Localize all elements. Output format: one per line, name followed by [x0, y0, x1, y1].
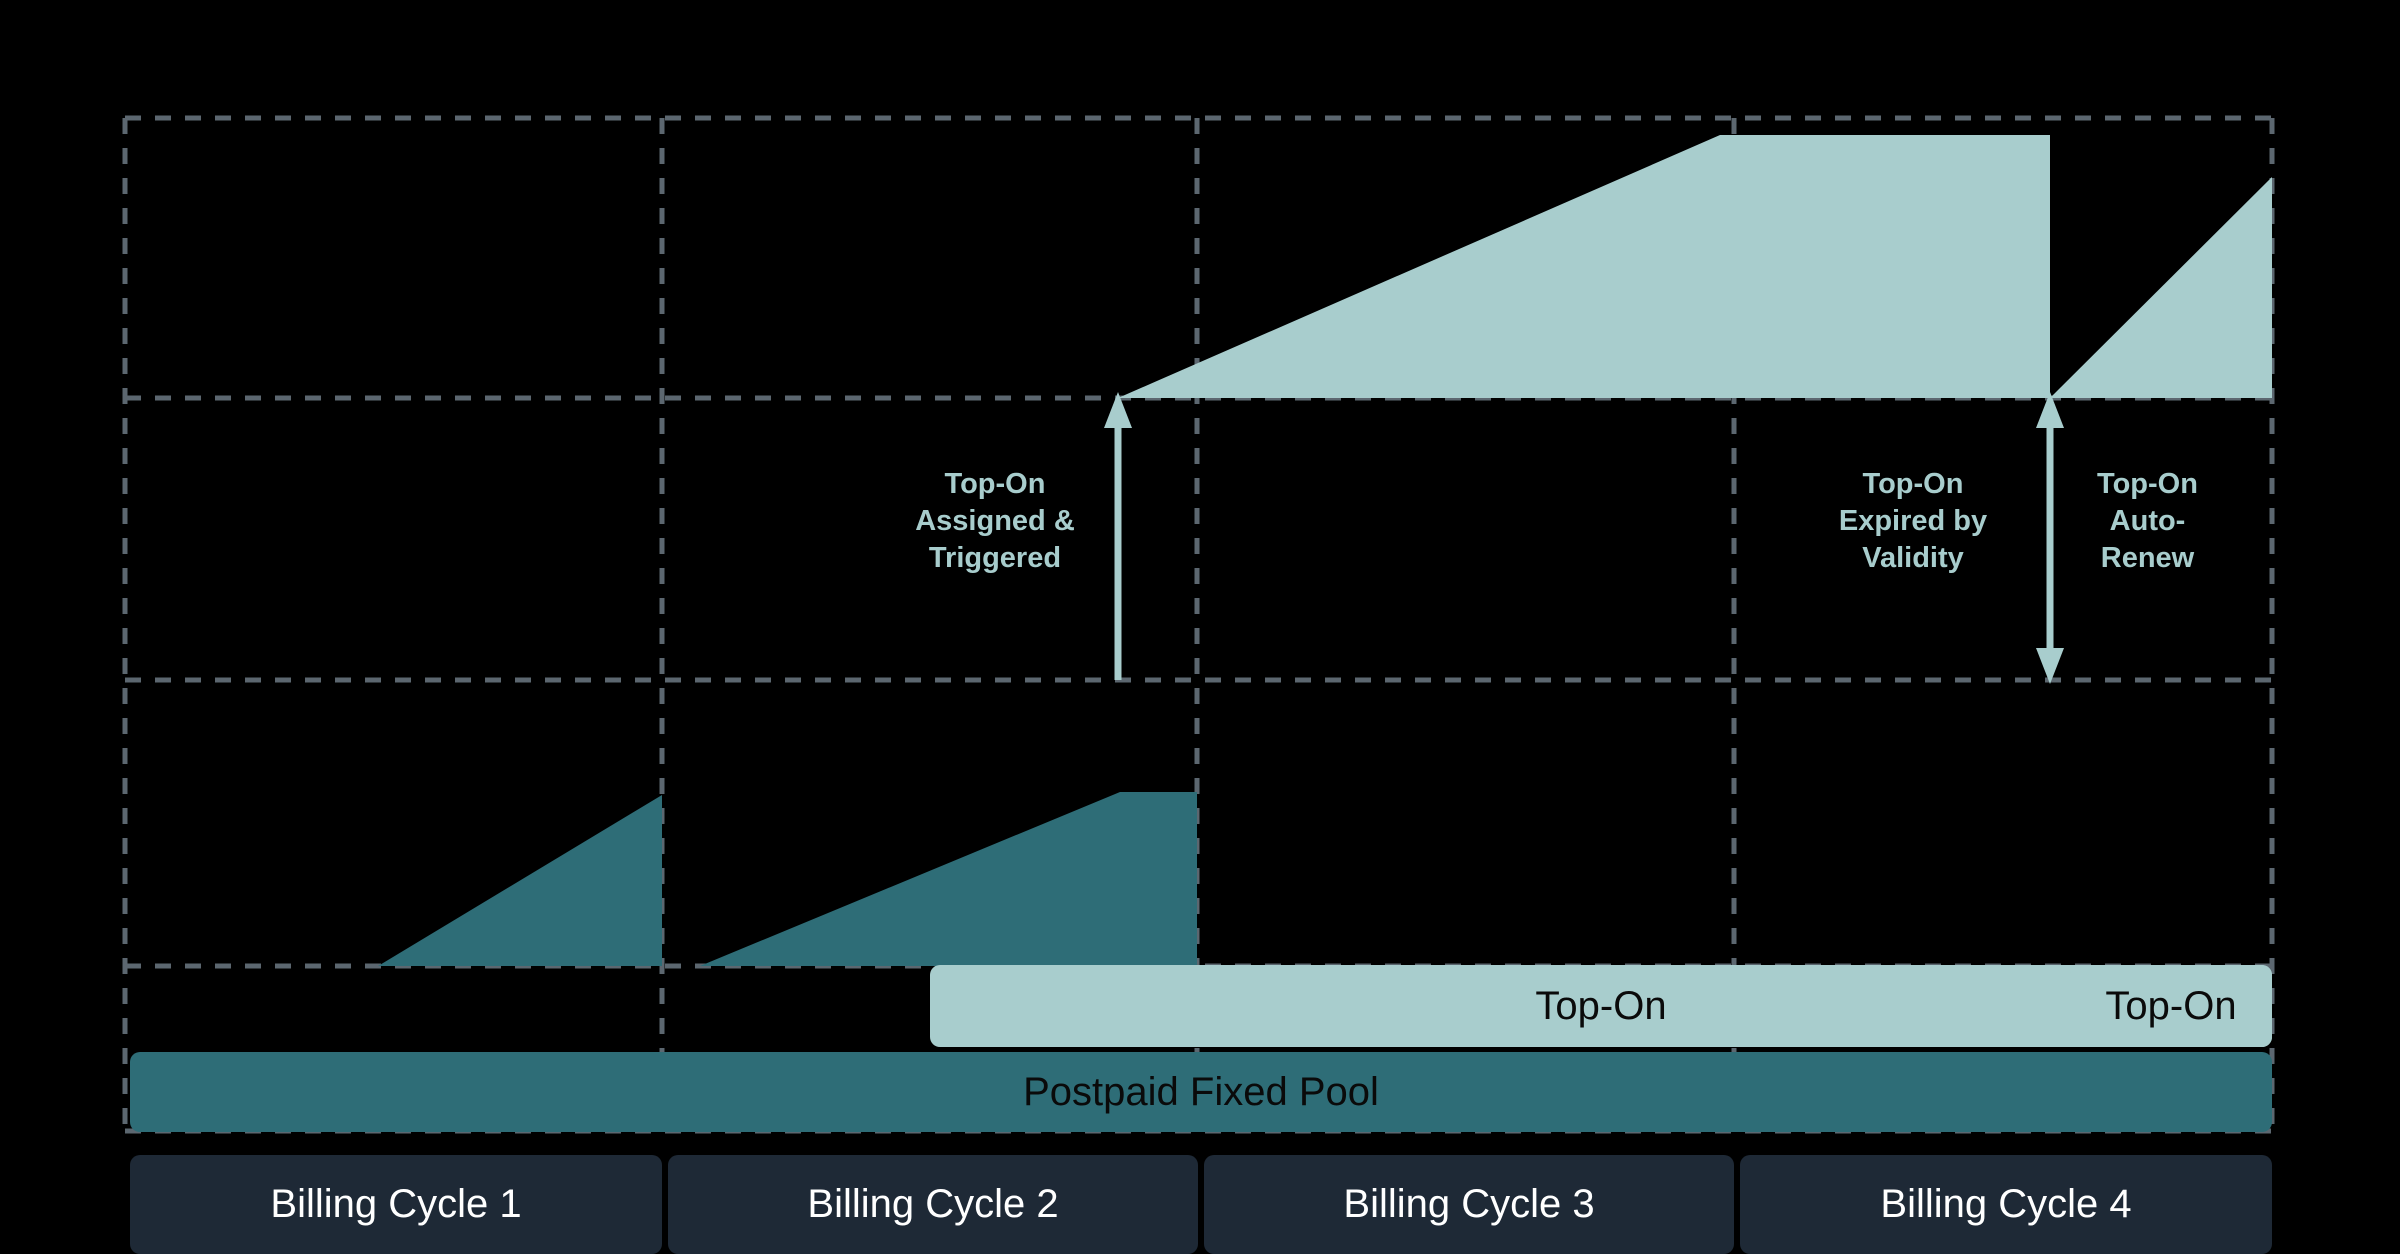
- annotation-top-on-assigned-triggered: Top-On Assigned & Triggered: [900, 466, 1090, 577]
- postpaid-usage-area: [378, 792, 1197, 966]
- postpaid-fixed-pool-bar[interactable]: Postpaid Fixed Pool: [130, 1052, 2272, 1132]
- billing-cycle-4[interactable]: Billing Cycle 4: [1740, 1155, 2272, 1254]
- billing-cycle-2[interactable]: Billing Cycle 2: [668, 1155, 1198, 1254]
- billing-cycle-2-label: Billing Cycle 2: [807, 1182, 1058, 1227]
- billing-cycle-3-label: Billing Cycle 3: [1343, 1182, 1594, 1227]
- topon-usage-ramp: [1118, 135, 2050, 398]
- topon-usage-area: [1118, 135, 2272, 398]
- postpaid-fixed-pool-label: Postpaid Fixed Pool: [1023, 1070, 1379, 1115]
- top-on-bar-2-label: Top-On: [2105, 984, 2236, 1029]
- billing-cycle-1-label: Billing Cycle 1: [270, 1182, 521, 1227]
- postpaid-usage-cycle2: [700, 792, 1197, 966]
- annotation-top-on-expired-by-validity: Top-On Expired by Validity: [1818, 466, 2008, 577]
- annotation-top-on-auto-renew: Top-On Auto- Renew: [2060, 466, 2235, 577]
- top-on-bar-2[interactable]: Top-On: [2070, 965, 2272, 1047]
- top-on-bar-1-label: Top-On: [1535, 984, 1666, 1029]
- diagram-canvas: Top-On Assigned & Triggered Top-On Expir…: [0, 0, 2400, 1254]
- postpaid-usage-cycle1: [378, 795, 662, 966]
- topon-usage-renew: [2050, 177, 2272, 398]
- billing-cycle-4-label: Billing Cycle 4: [1880, 1182, 2131, 1227]
- billing-cycle-3[interactable]: Billing Cycle 3: [1204, 1155, 1734, 1254]
- billing-cycle-1[interactable]: Billing Cycle 1: [130, 1155, 662, 1254]
